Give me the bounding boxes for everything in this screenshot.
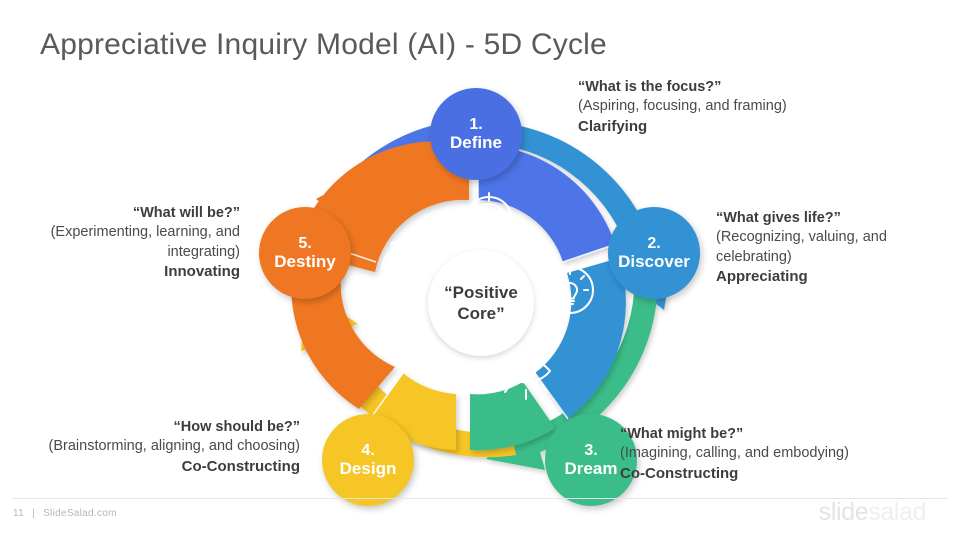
node-dream-label: Dream <box>565 459 618 478</box>
node-design-label: Design <box>340 459 397 478</box>
page-title: Appreciative Inquiry Model (AI) - 5D Cyc… <box>40 28 607 62</box>
node-destiny[interactable]: 5. Destiny <box>259 207 351 299</box>
page-number: 11 <box>13 508 24 519</box>
footer-credit: 11 | SlideSalad.com <box>13 508 117 519</box>
annotation-discover-detail: (Recognizing, valuing, and celebrating) <box>716 228 952 267</box>
node-define-label: Define <box>450 133 502 152</box>
node-design[interactable]: 4. Design <box>322 414 414 506</box>
positive-core-center: “Positive Core” <box>428 250 534 356</box>
watermark-part-1: slide <box>819 498 868 526</box>
annotation-dream-detail: (Imagining, calling, and embodying) <box>620 444 950 463</box>
node-destiny-number: 5. <box>298 235 311 253</box>
annotation-define-detail: (Aspiring, focusing, and framing) <box>578 97 908 116</box>
annotation-destiny-detail: (Experimenting, learning, and integratin… <box>20 223 240 262</box>
annotation-design-keyword: Co-Constructing <box>40 457 300 477</box>
annotation-dream-keyword: Co-Constructing <box>620 464 950 484</box>
annotation-destiny: “What will be?” (Experimenting, learning… <box>20 204 240 282</box>
footer-site: SlideSalad.com <box>43 508 117 519</box>
annotation-discover-question: “What gives life?” <box>716 209 952 228</box>
node-dream-number: 3. <box>584 442 597 460</box>
node-design-number: 4. <box>361 442 374 460</box>
annotation-design-detail: (Brainstorming, aligning, and choosing) <box>40 437 300 456</box>
node-discover[interactable]: 2. Discover <box>608 207 700 299</box>
slide-canvas: Appreciative Inquiry Model (AI) - 5D Cyc… <box>0 0 960 540</box>
core-line-2: Core” <box>457 303 504 324</box>
annotation-destiny-question: “What will be?” <box>20 204 240 223</box>
footer-separator: | <box>32 508 35 519</box>
node-define-number: 1. <box>469 116 482 134</box>
annotation-define-question: “What is the focus?” <box>578 78 908 97</box>
magnifier-target-icon <box>447 193 516 257</box>
annotation-dream-question: “What might be?” <box>620 425 950 444</box>
annotation-discover-keyword: Appreciating <box>716 267 952 287</box>
core-line-1: “Positive <box>444 282 518 303</box>
annotation-dream: “What might be?” (Imagining, calling, an… <box>620 425 950 484</box>
annotation-define-keyword: Clarifying <box>578 117 908 137</box>
annotation-design-question: “How should be?” <box>40 418 300 437</box>
footer-divider <box>12 498 948 499</box>
slidesalad-watermark: slidesalad <box>819 498 926 527</box>
node-define[interactable]: 1. Define <box>430 88 522 180</box>
annotation-destiny-keyword: Innovating <box>20 262 240 282</box>
watermark-part-2: salad <box>868 498 926 526</box>
node-discover-number: 2. <box>647 235 660 253</box>
node-discover-label: Discover <box>618 252 690 271</box>
annotation-discover: “What gives life?” (Recognizing, valuing… <box>716 209 952 287</box>
annotation-design: “How should be?” (Brainstorming, alignin… <box>40 418 300 477</box>
annotation-define: “What is the focus?” (Aspiring, focusing… <box>578 78 908 137</box>
node-destiny-label: Destiny <box>274 252 335 271</box>
